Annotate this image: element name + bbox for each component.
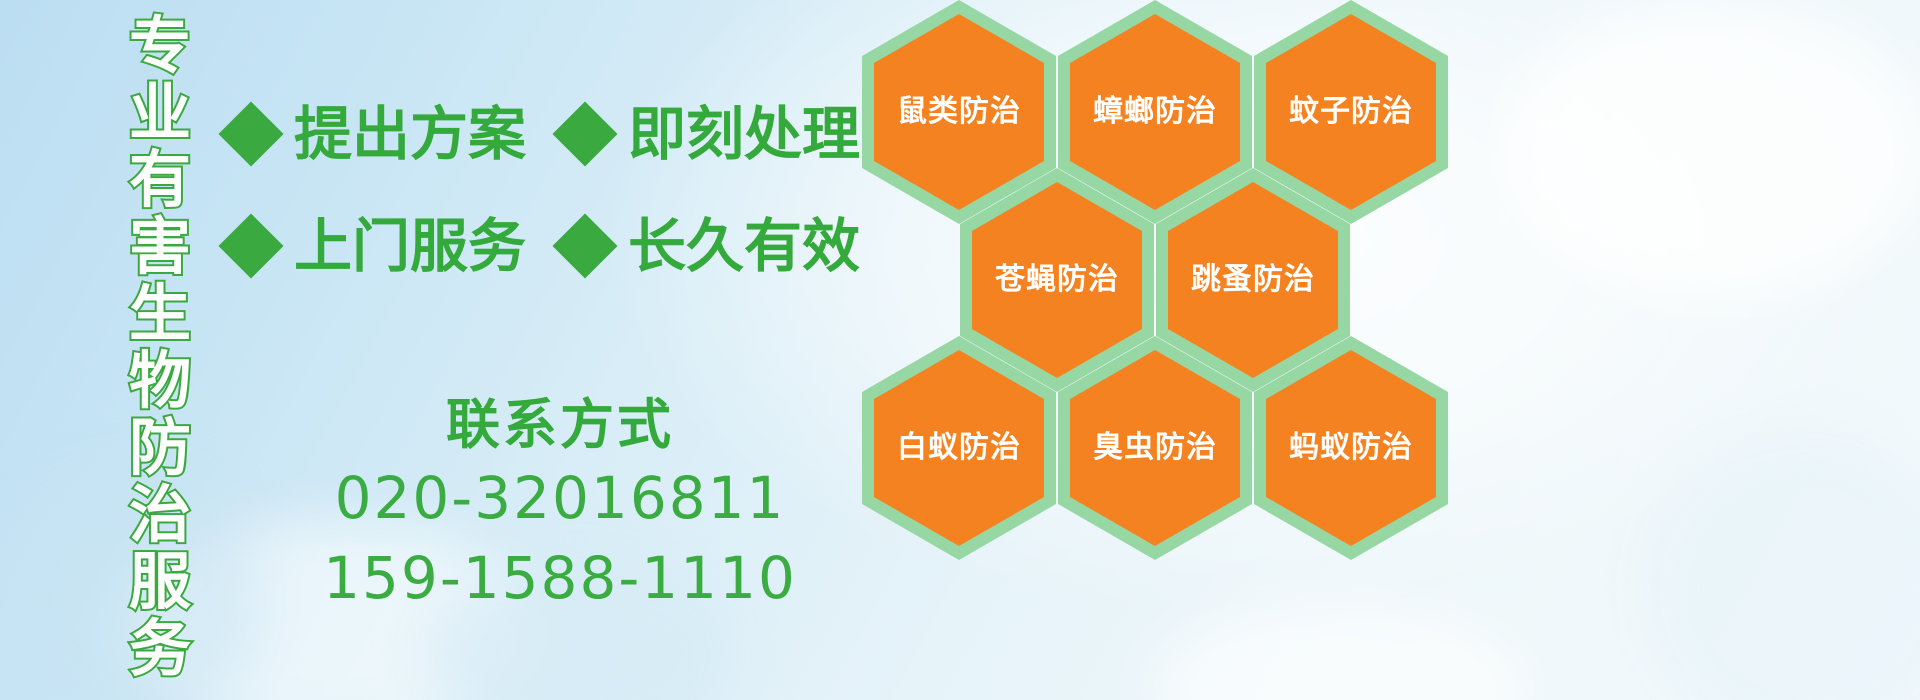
service-hexagon-termite[interactable]: 白蚁防治 (862, 336, 1056, 560)
contact-block: 联系方式 020-32016811 159-1588-1110 (240, 392, 880, 618)
background-blur-shape (1500, 0, 1920, 300)
service-label: 苍蝇防治 (995, 264, 1119, 296)
service-label: 蚂蚁防治 (1289, 432, 1413, 464)
background-blur-shape (1150, 600, 1530, 700)
feature-label: 长久有效 (628, 217, 860, 275)
vertical-headline-char: 专 (129, 12, 191, 79)
feature-label: 即刻处理 (628, 105, 860, 163)
contact-phone-mobile[interactable]: 159-1588-1110 (240, 538, 880, 618)
contact-title: 联系方式 (240, 392, 880, 458)
vertical-headline-char: 防 (129, 414, 191, 481)
service-hexagon-grid: 鼠类防治 蟑螂防治 蚊子防治 苍蝇防治 跳蚤防治 (862, 0, 1462, 535)
vertical-headline-char: 服 (129, 548, 191, 615)
vertical-headline-char: 治 (129, 481, 191, 548)
service-label: 跳蚤防治 (1191, 264, 1315, 296)
vertical-headline-char: 有 (129, 146, 191, 213)
vertical-headline-char: 务 (129, 615, 191, 682)
vertical-headline-char: 物 (129, 347, 191, 414)
diamond-icon (218, 101, 283, 166)
feature-row: 提出方案 即刻处理 (228, 78, 868, 190)
feature-label: 上门服务 (294, 217, 526, 275)
feature-item: 提出方案 (228, 105, 526, 163)
vertical-headline-char: 害 (129, 213, 191, 280)
service-label: 蟑螂防治 (1093, 96, 1217, 128)
diamond-icon (552, 101, 617, 166)
feature-item: 长久有效 (562, 217, 860, 275)
feature-label: 提出方案 (294, 105, 526, 163)
diamond-icon (218, 213, 283, 278)
service-label: 鼠类防治 (897, 96, 1021, 128)
service-label: 臭虫防治 (1093, 432, 1217, 464)
service-hexagon-bedbug[interactable]: 臭虫防治 (1058, 336, 1252, 560)
service-hexagon-ant[interactable]: 蚂蚁防治 (1254, 336, 1448, 560)
promotional-banner: 专 业 有 害 生 物 防 治 服 务 提出方案 即刻处理 上门服务 (0, 0, 1920, 700)
feature-item: 上门服务 (228, 217, 526, 275)
vertical-headline: 专 业 有 害 生 物 防 治 服 务 (112, 12, 208, 684)
feature-item: 即刻处理 (562, 105, 860, 163)
service-label: 白蚁防治 (897, 432, 1021, 464)
vertical-headline-char: 业 (129, 79, 191, 146)
diamond-icon (552, 213, 617, 278)
feature-row: 上门服务 长久有效 (228, 190, 868, 302)
contact-phone-landline[interactable]: 020-32016811 (240, 458, 880, 538)
background-blur-shape (1640, 430, 1920, 700)
service-label: 蚊子防治 (1289, 96, 1413, 128)
feature-list: 提出方案 即刻处理 上门服务 长久有效 (228, 78, 868, 302)
vertical-headline-char: 生 (129, 280, 191, 347)
